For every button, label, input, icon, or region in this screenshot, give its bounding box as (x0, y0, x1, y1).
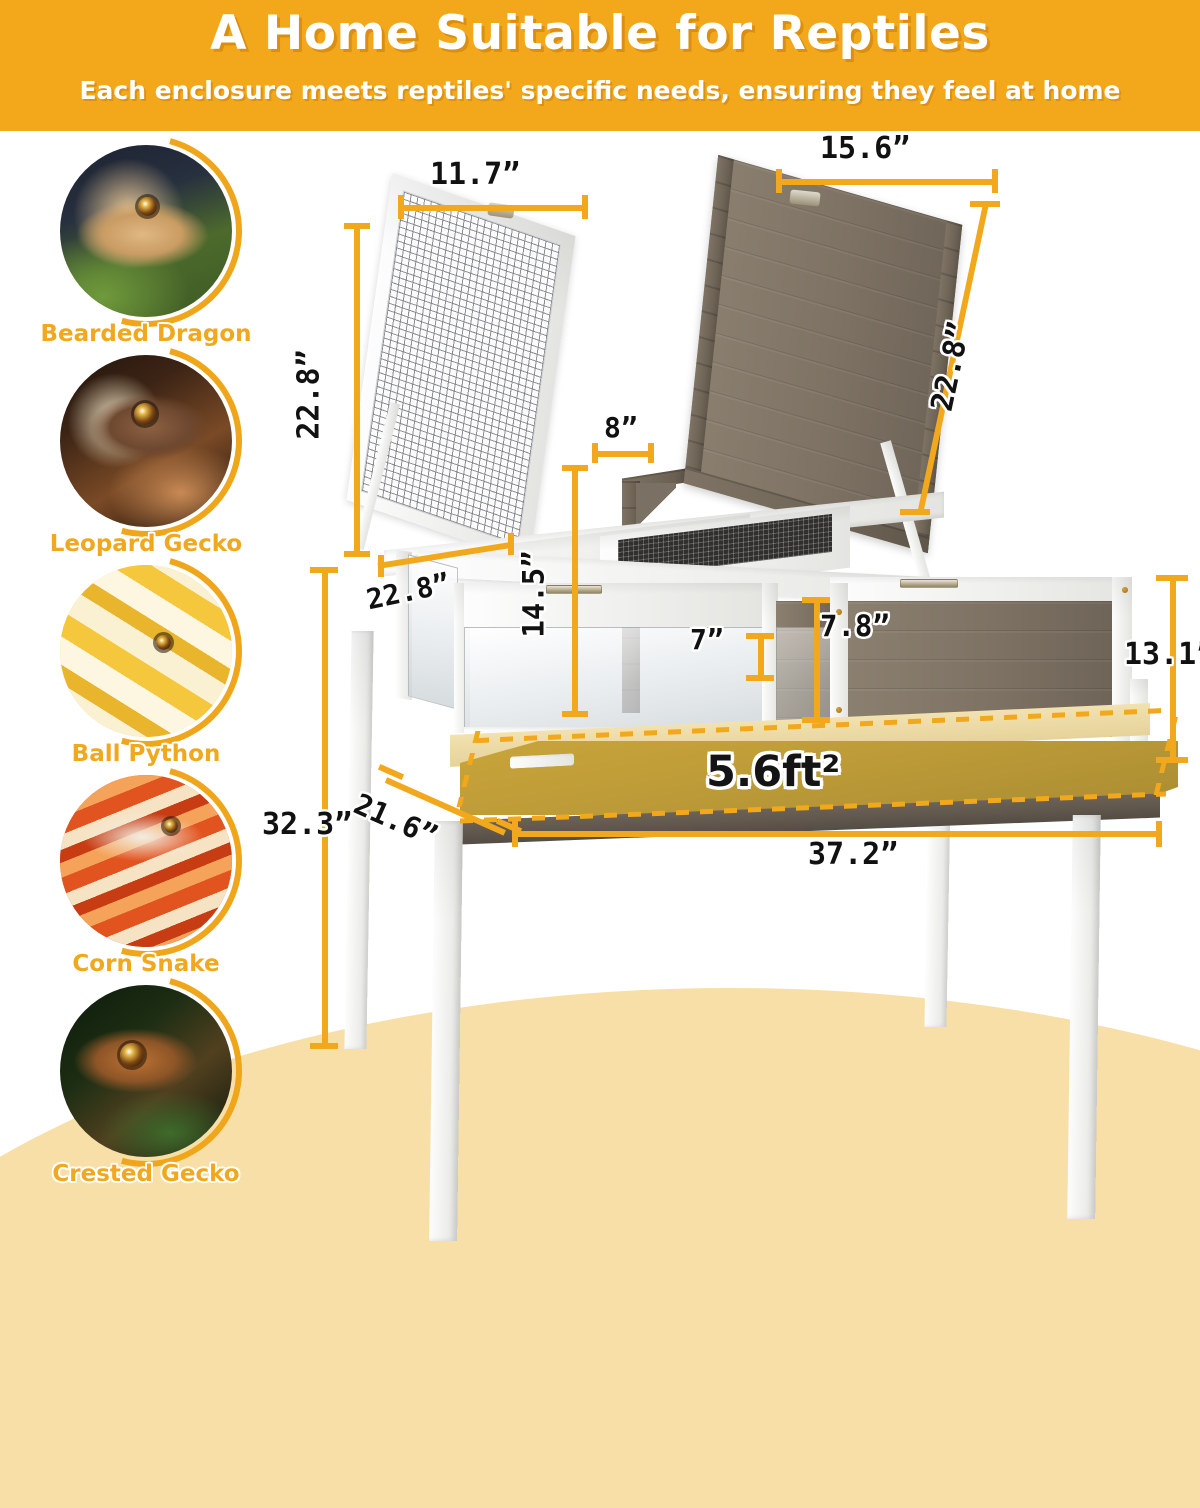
area-badge: 5.6ft² (706, 747, 840, 797)
dim-right-height-label: 13.1” (1124, 637, 1200, 672)
species-list: Bearded Dragon Leopard Gecko Ball Python… (0, 131, 300, 1200)
dim-cap (1156, 575, 1188, 581)
dim-divider-opening-line (758, 633, 764, 681)
dim-cap (592, 443, 598, 463)
page-title: A Home Suitable for Reptiles (0, 6, 1200, 61)
left-mesh-lid[interactable] (347, 173, 576, 563)
stand-leg-front-right (1067, 815, 1101, 1219)
header-banner: A Home Suitable for Reptiles Each enclos… (0, 0, 1200, 131)
dim-cap (310, 1043, 338, 1049)
dim-perch-height-line (572, 465, 578, 717)
dim-cap (344, 551, 370, 557)
right-lid-latch-icon (789, 189, 820, 206)
species-label: Bearded Dragon (0, 321, 292, 347)
dim-cap (582, 195, 588, 219)
dim-cap (648, 443, 654, 463)
dim-perch-width-line (592, 451, 654, 457)
dim-inner-panel-label: 7.8” (820, 609, 890, 643)
species-label: Corn Snake (0, 951, 292, 977)
dim-cap (970, 201, 1000, 207)
dim-cap (746, 633, 774, 639)
dim-cap (398, 195, 404, 219)
species-label: Crested Gecko (0, 1161, 292, 1187)
dim-cap (508, 533, 514, 555)
dim-cap (512, 821, 518, 847)
dim-divider-opening-label: 7” (690, 623, 724, 656)
dim-cap (776, 169, 782, 193)
dim-right-lid-width-line (776, 179, 998, 185)
dim-left-lid-height-line (354, 223, 360, 557)
stand-leg-front-left (429, 821, 463, 1241)
dim-cap (562, 465, 588, 471)
screw-icon (1122, 587, 1128, 593)
dim-cap (992, 169, 998, 193)
dim-cap (378, 555, 384, 577)
product-dimension-diagram: 11.7” 22.8” 8” 14.5” 15.6” 22.8” 22.8” 1… (300, 131, 1200, 1200)
dim-perch-height-label: 14.5” (517, 550, 551, 637)
dim-left-lid-width-line (398, 205, 588, 211)
dim-base-width-label: 37.2” (808, 837, 898, 872)
dim-cap (746, 675, 774, 681)
dim-cap (802, 597, 830, 603)
left-chamber-top-band (464, 583, 764, 627)
right-chamber-hinge (900, 579, 958, 588)
dim-cap (378, 764, 404, 780)
dim-cap (900, 509, 930, 515)
dim-right-lid-width-label: 15.6” (820, 131, 910, 166)
dim-cap (310, 567, 338, 573)
dim-left-lid-width-label: 11.7” (430, 157, 520, 192)
page-subtitle: Each enclosure meets reptiles' specific … (0, 76, 1200, 105)
dim-cap (344, 223, 370, 229)
species-label: Ball Python (0, 741, 292, 767)
dim-cap (1156, 821, 1162, 847)
dim-cap (562, 711, 588, 717)
screw-icon (836, 707, 842, 713)
species-label: Leopard Gecko (0, 531, 292, 557)
right-chamber-top-rail (830, 577, 1130, 603)
dim-perch-width-label: 8” (604, 411, 638, 444)
